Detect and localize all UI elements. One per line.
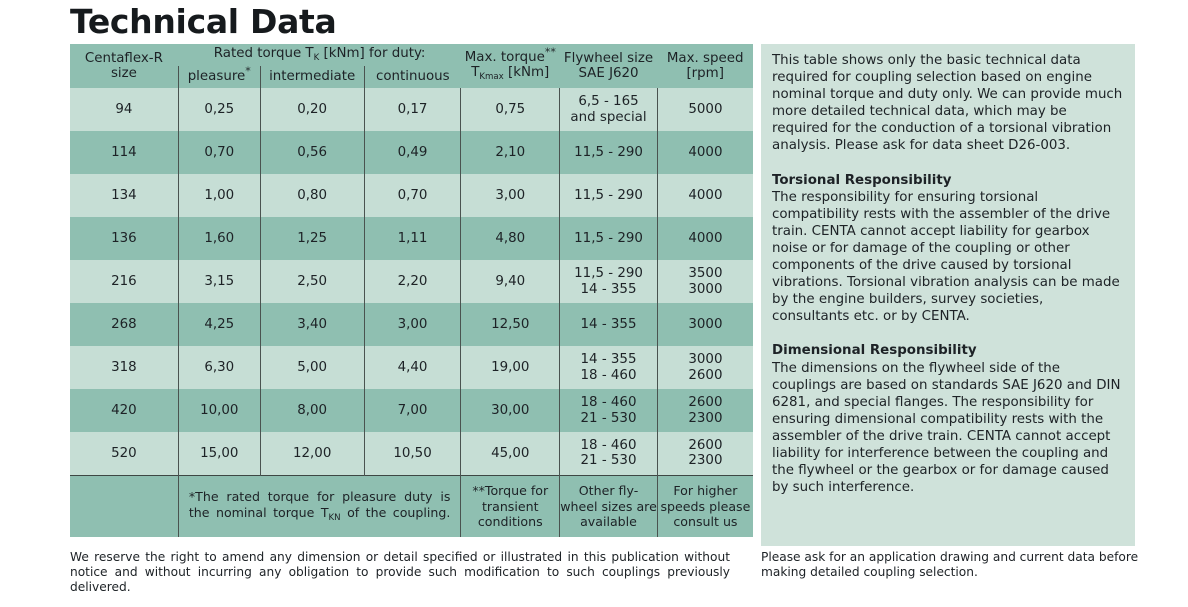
- table-row: 3186,305,004,4019,0014 - 35518 - 4603000…: [70, 346, 753, 389]
- cell-line: 6,5 - 165: [560, 94, 657, 110]
- cell-continuous: 1,11: [364, 217, 461, 260]
- header-max-torque-unit: [kNm]: [504, 65, 550, 80]
- cell-line: 2300: [658, 411, 753, 427]
- cell-max-torque: 30,00: [461, 389, 560, 432]
- footnote-rated-suffix: of the coupling.: [341, 505, 451, 520]
- header-flywheel-line2: SAE J620: [560, 66, 658, 82]
- table-row: 42010,008,007,0030,0018 - 46021 - 530260…: [70, 389, 753, 432]
- cell-size: 94: [70, 88, 178, 131]
- cell-continuous: 0,17: [364, 88, 461, 131]
- header-cell-continuous: continuous: [364, 66, 461, 88]
- cell-pleasure: 4,25: [178, 303, 260, 346]
- cell-intermediate: 12,00: [260, 432, 364, 475]
- cell-size: 318: [70, 346, 178, 389]
- cell-line: 2600: [658, 395, 753, 411]
- header-rated-torque-suffix: [kNm] for duty:: [319, 46, 425, 61]
- header-cell-max-torque: Max. torque** TKmax [kNm]: [461, 44, 560, 88]
- footnote-rated-torque-text: *The rated torque for pleasure duty is t…: [179, 489, 461, 523]
- table-body: 940,250,200,170,756,5 - 165and special50…: [70, 88, 753, 475]
- cell-flywheel: 11,5 - 290: [560, 217, 658, 260]
- cell-intermediate: 5,00: [260, 346, 364, 389]
- cell-size: 136: [70, 217, 178, 260]
- cell-line: 18 - 460: [560, 438, 657, 454]
- cell-line: 3000: [658, 352, 753, 368]
- cell-pleasure: 6,30: [178, 346, 260, 389]
- header-cell-intermediate: intermediate: [260, 66, 364, 88]
- cell-intermediate: 0,56: [260, 131, 364, 174]
- cell-continuous: 4,40: [364, 346, 461, 389]
- header-pleasure-label: pleasure: [188, 69, 246, 84]
- cell-max-torque: 3,00: [461, 174, 560, 217]
- header-flywheel-line1: Flywheel size: [560, 51, 658, 67]
- cell-max-speed: 5000: [657, 88, 753, 131]
- cell-flywheel: 11,5 - 29014 - 355: [560, 260, 658, 303]
- table-row: 1140,700,560,492,1011,5 - 2904000: [70, 131, 753, 174]
- table-header: Centaflex-R size Rated torque TK [kNm] f…: [70, 44, 753, 88]
- cell-max-speed: 26002300: [657, 432, 753, 475]
- header-pleasure-star: *: [245, 65, 251, 78]
- cell-intermediate: 2,50: [260, 260, 364, 303]
- info-dimensional-heading: Dimensional Responsibility: [772, 342, 1123, 359]
- cell-intermediate: 3,40: [260, 303, 364, 346]
- cell-max-torque: 9,40: [461, 260, 560, 303]
- cell-max-speed: 3000: [657, 303, 753, 346]
- cell-intermediate: 0,20: [260, 88, 364, 131]
- cell-line: 18 - 460: [560, 368, 657, 384]
- technical-data-page: Technical Data Centaflex-R size Rated to…: [0, 0, 1188, 607]
- header-cell-flywheel: Flywheel size SAE J620: [560, 44, 658, 88]
- footnote-cell-max-torque: **Torque for transient conditions: [461, 475, 560, 537]
- info-dimensional-body: The dimensions on the flywheel side of t…: [772, 360, 1123, 497]
- header-rated-torque-subscript: K: [314, 53, 320, 63]
- cell-pleasure: 1,60: [178, 217, 260, 260]
- table-footnote-row: *The rated torque for pleasure duty is t…: [70, 475, 753, 537]
- cell-pleasure: 15,00: [178, 432, 260, 475]
- cell-line: 21 - 530: [560, 453, 657, 469]
- header-max-torque-text: Max. torque: [465, 50, 545, 65]
- page-title: Technical Data: [70, 2, 337, 42]
- header-size-line1: Centaflex-R: [70, 51, 178, 67]
- cell-max-speed: 4000: [657, 131, 753, 174]
- table-row: 1341,000,800,703,0011,5 - 2904000: [70, 174, 753, 217]
- info-intro-paragraph: This table shows only the basic technica…: [772, 52, 1123, 155]
- header-row-top: Centaflex-R size Rated torque TK [kNm] f…: [70, 44, 753, 66]
- technical-data-table-container: Centaflex-R size Rated torque TK [kNm] f…: [70, 44, 753, 537]
- cell-flywheel: 11,5 - 290: [560, 174, 658, 217]
- header-max-torque-line2: TKmax [kNm]: [461, 65, 560, 83]
- cell-max-speed: 30002600: [657, 346, 753, 389]
- header-rated-torque-prefix: Rated torque T: [214, 46, 314, 61]
- cell-max-torque: 2,10: [461, 131, 560, 174]
- info-spacer-1: [772, 155, 1123, 172]
- cell-continuous: 0,70: [364, 174, 461, 217]
- cell-flywheel: 14 - 355: [560, 303, 658, 346]
- header-max-speed-line2: [rpm]: [657, 66, 753, 82]
- info-spacer-2: [772, 325, 1123, 342]
- header-cell-rated-torque-group: Rated torque TK [kNm] for duty:: [178, 44, 461, 66]
- footnote-cell-empty: [70, 475, 178, 537]
- cell-intermediate: 0,80: [260, 174, 364, 217]
- cell-max-speed: 35003000: [657, 260, 753, 303]
- cell-continuous: 10,50: [364, 432, 461, 475]
- cell-pleasure: 3,15: [178, 260, 260, 303]
- cell-max-torque: 45,00: [461, 432, 560, 475]
- cell-max-torque: 12,50: [461, 303, 560, 346]
- header-max-torque-line1: Max. torque**: [461, 50, 560, 66]
- footnote-row: *The rated torque for pleasure duty is t…: [70, 475, 753, 537]
- table-row: 1361,601,251,114,8011,5 - 2904000: [70, 217, 753, 260]
- header-cell-max-speed: Max. speed [rpm]: [657, 44, 753, 88]
- cell-continuous: 2,20: [364, 260, 461, 303]
- cell-flywheel: 14 - 35518 - 460: [560, 346, 658, 389]
- cell-flywheel: 6,5 - 165and special: [560, 88, 658, 131]
- table-row: 52015,0012,0010,5045,0018 - 46021 - 5302…: [70, 432, 753, 475]
- cell-line: 11,5 - 290: [560, 266, 657, 282]
- cell-pleasure: 1,00: [178, 174, 260, 217]
- cell-max-speed: 4000: [657, 174, 753, 217]
- cell-flywheel: 18 - 46021 - 530: [560, 432, 658, 475]
- cell-max-torque: 4,80: [461, 217, 560, 260]
- cell-flywheel: 18 - 46021 - 530: [560, 389, 658, 432]
- cell-intermediate: 1,25: [260, 217, 364, 260]
- cell-max-torque: 0,75: [461, 88, 560, 131]
- cell-size: 520: [70, 432, 178, 475]
- table-row: 940,250,200,170,756,5 - 165and special50…: [70, 88, 753, 131]
- cell-line: 3000: [658, 282, 753, 298]
- cell-line: 14 - 355: [560, 282, 657, 298]
- cell-line: 2600: [658, 438, 753, 454]
- cell-max-speed: 4000: [657, 217, 753, 260]
- disclaimer-left: We reserve the right to amend any dimens…: [70, 550, 730, 596]
- footnote-cell-max-speed: For higher speeds please consult us: [657, 475, 753, 537]
- cell-line: 2300: [658, 453, 753, 469]
- header-size-line2: size: [70, 66, 178, 82]
- disclaimer-right: Please ask for an application drawing an…: [761, 550, 1141, 580]
- cell-line: 18 - 460: [560, 395, 657, 411]
- cell-intermediate: 8,00: [260, 389, 364, 432]
- footnote-cell-flywheel: Other fly-wheel sizes are available: [560, 475, 658, 537]
- info-torsional-body: The responsibility for ensuring torsiona…: [772, 189, 1123, 326]
- cell-size: 268: [70, 303, 178, 346]
- header-cell-size: Centaflex-R size: [70, 44, 178, 88]
- cell-size: 134: [70, 174, 178, 217]
- cell-continuous: 3,00: [364, 303, 461, 346]
- cell-line: 21 - 530: [560, 411, 657, 427]
- cell-pleasure: 10,00: [178, 389, 260, 432]
- cell-max-torque: 19,00: [461, 346, 560, 389]
- cell-size: 114: [70, 131, 178, 174]
- cell-line: and special: [560, 110, 657, 126]
- cell-pleasure: 0,25: [178, 88, 260, 131]
- header-max-speed-line1: Max. speed: [657, 51, 753, 67]
- footnote-rated-subscript: KN: [329, 513, 341, 523]
- cell-max-speed: 26002300: [657, 389, 753, 432]
- cell-continuous: 0,49: [364, 131, 461, 174]
- cell-line: 2600: [658, 368, 753, 384]
- header-max-torque-subscript: Kmax: [479, 72, 503, 82]
- cell-pleasure: 0,70: [178, 131, 260, 174]
- cell-size: 216: [70, 260, 178, 303]
- cell-line: 3500: [658, 266, 753, 282]
- technical-data-table: Centaflex-R size Rated torque TK [kNm] f…: [70, 44, 753, 537]
- footnote-cell-rated-torque: *The rated torque for pleasure duty is t…: [178, 475, 461, 537]
- header-max-torque-star: **: [545, 45, 556, 58]
- table-row: 2684,253,403,0012,5014 - 3553000: [70, 303, 753, 346]
- info-torsional-heading: Torsional Responsibility: [772, 172, 1123, 189]
- cell-line: 14 - 355: [560, 352, 657, 368]
- table-row: 2163,152,502,209,4011,5 - 29014 - 355350…: [70, 260, 753, 303]
- cell-continuous: 7,00: [364, 389, 461, 432]
- info-panel: This table shows only the basic technica…: [761, 44, 1135, 546]
- cell-size: 420: [70, 389, 178, 432]
- header-cell-pleasure: pleasure*: [178, 66, 260, 88]
- cell-flywheel: 11,5 - 290: [560, 131, 658, 174]
